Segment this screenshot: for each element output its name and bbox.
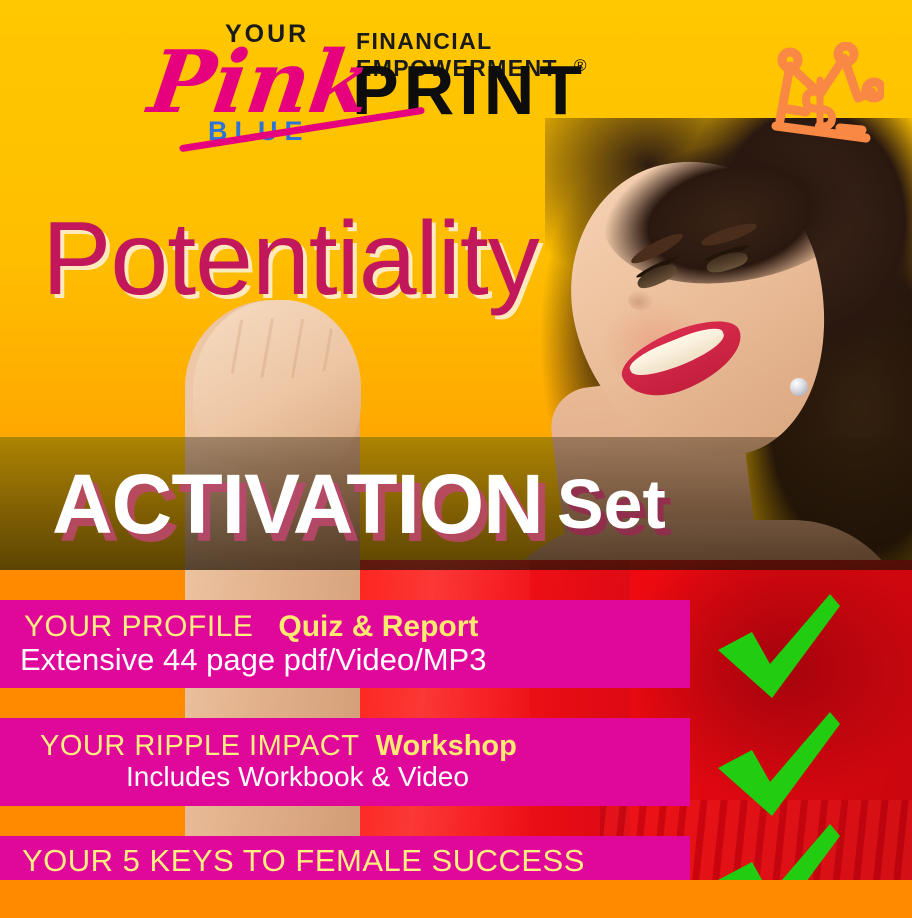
feature-title: YOUR 5 KEYS TO FEMALE SUCCESS <box>18 845 690 878</box>
feature-title-bold: Workshop <box>376 730 517 762</box>
list-item[interactable]: YOUR PROFILE Quiz & Report Extensive 44 … <box>0 600 690 688</box>
earring <box>790 378 808 396</box>
feature-title-bold: Quiz & Report <box>278 610 478 643</box>
feature-title-plain: YOUR RIPPLE IMPACT <box>40 730 359 762</box>
check-icon <box>712 592 840 700</box>
check-icon <box>712 710 840 818</box>
activation-banner: ACTIVATION Set <box>0 437 912 570</box>
feature-title: YOUR PROFILE Quiz & Report <box>18 611 690 643</box>
feature-subtitle: Includes Workbook & Video <box>18 762 690 793</box>
promotional-poster: YOUR FINANCIAL EMPOWERMENT PRINT ® Pink … <box>0 0 912 918</box>
page-title: Potentiality <box>42 200 539 319</box>
feature-list: YOUR PROFILE Quiz & Report Extensive 44 … <box>0 570 912 918</box>
crown-dollar-icon <box>762 42 884 146</box>
registered-trademark-icon: ® <box>574 56 587 76</box>
bottom-orange-strip <box>0 880 912 918</box>
feature-title: YOUR RIPPLE IMPACT Workshop <box>18 731 690 761</box>
list-item[interactable]: YOUR RIPPLE IMPACT Workshop Includes Wor… <box>0 718 690 806</box>
feature-title-plain: YOUR PROFILE <box>24 610 253 643</box>
activation-suffix: Set <box>557 469 666 539</box>
nose <box>628 290 654 310</box>
fist-knuckles <box>210 318 340 378</box>
feature-subtitle: Extensive 44 page pdf/Video/MP3 <box>18 643 690 677</box>
feature-title-plain: YOUR 5 KEYS TO FEMALE SUCCESS <box>22 843 585 878</box>
activation-title: ACTIVATION <box>52 462 543 546</box>
brand-logo[interactable]: YOUR FINANCIAL EMPOWERMENT PRINT ® Pink … <box>150 18 620 143</box>
